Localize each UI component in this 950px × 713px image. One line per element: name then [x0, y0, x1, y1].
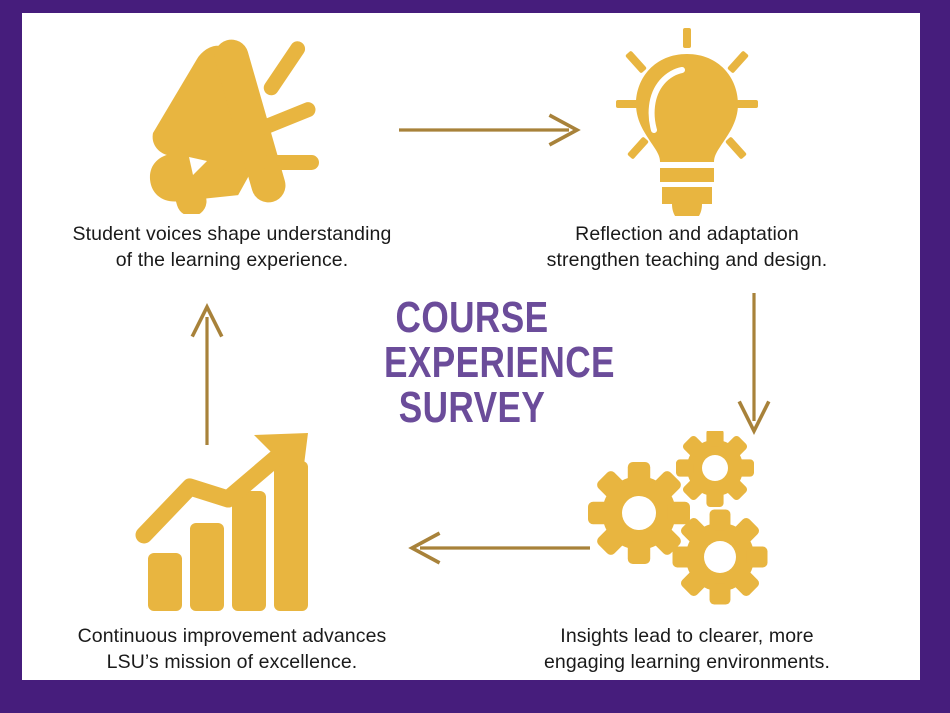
page-title: COURSE EXPERIENCE SURVEY [384, 295, 560, 430]
title-line-2: EXPERIENCE [384, 340, 560, 385]
stage-bottom-left-caption: Continuous improvement advances LSU’s mi… [32, 623, 432, 675]
stage-bottom-right-caption: Insights lead to clearer, more engaging … [487, 623, 887, 675]
lightbulb-icon [592, 21, 782, 221]
caption-line-2: strengthen teaching and design. [547, 249, 828, 271]
caption-line-1: Insights lead to clearer, more [560, 625, 813, 647]
arrow-bottom-left-icon [402, 531, 592, 565]
arrow-right-down-icon [737, 291, 771, 439]
bar-chart-growth-icon [132, 423, 332, 623]
stage-bottom-left: Continuous improvement advances LSU’s mi… [22, 423, 442, 675]
caption-line-1: Reflection and adaptation [575, 223, 799, 245]
stage-top-right: Reflection and adaptation strengthen tea… [477, 21, 897, 273]
title-line-3: SURVEY [384, 385, 560, 430]
gears-icon [587, 423, 787, 623]
arrow-top-right-icon [397, 113, 587, 147]
stage-top-left-caption: Student voices shape understanding of th… [32, 221, 432, 273]
stage-top-left: Student voices shape understanding of th… [22, 21, 442, 273]
title-line-1: COURSE [384, 295, 560, 340]
infographic-inner-panel: Student voices shape understanding of th… [22, 13, 920, 680]
caption-line-1: Student voices shape understanding [73, 223, 392, 245]
caption-line-2: LSU’s mission of excellence. [107, 651, 358, 673]
stage-top-right-caption: Reflection and adaptation strengthen tea… [487, 221, 887, 273]
megaphone-icon [127, 21, 337, 221]
caption-line-1: Continuous improvement advances [78, 625, 387, 647]
arrow-left-up-icon [190, 299, 224, 447]
caption-line-2: engaging learning environments. [544, 651, 830, 673]
caption-line-2: of the learning experience. [116, 249, 349, 271]
infographic-canvas: Student voices shape understanding of th… [0, 0, 950, 713]
